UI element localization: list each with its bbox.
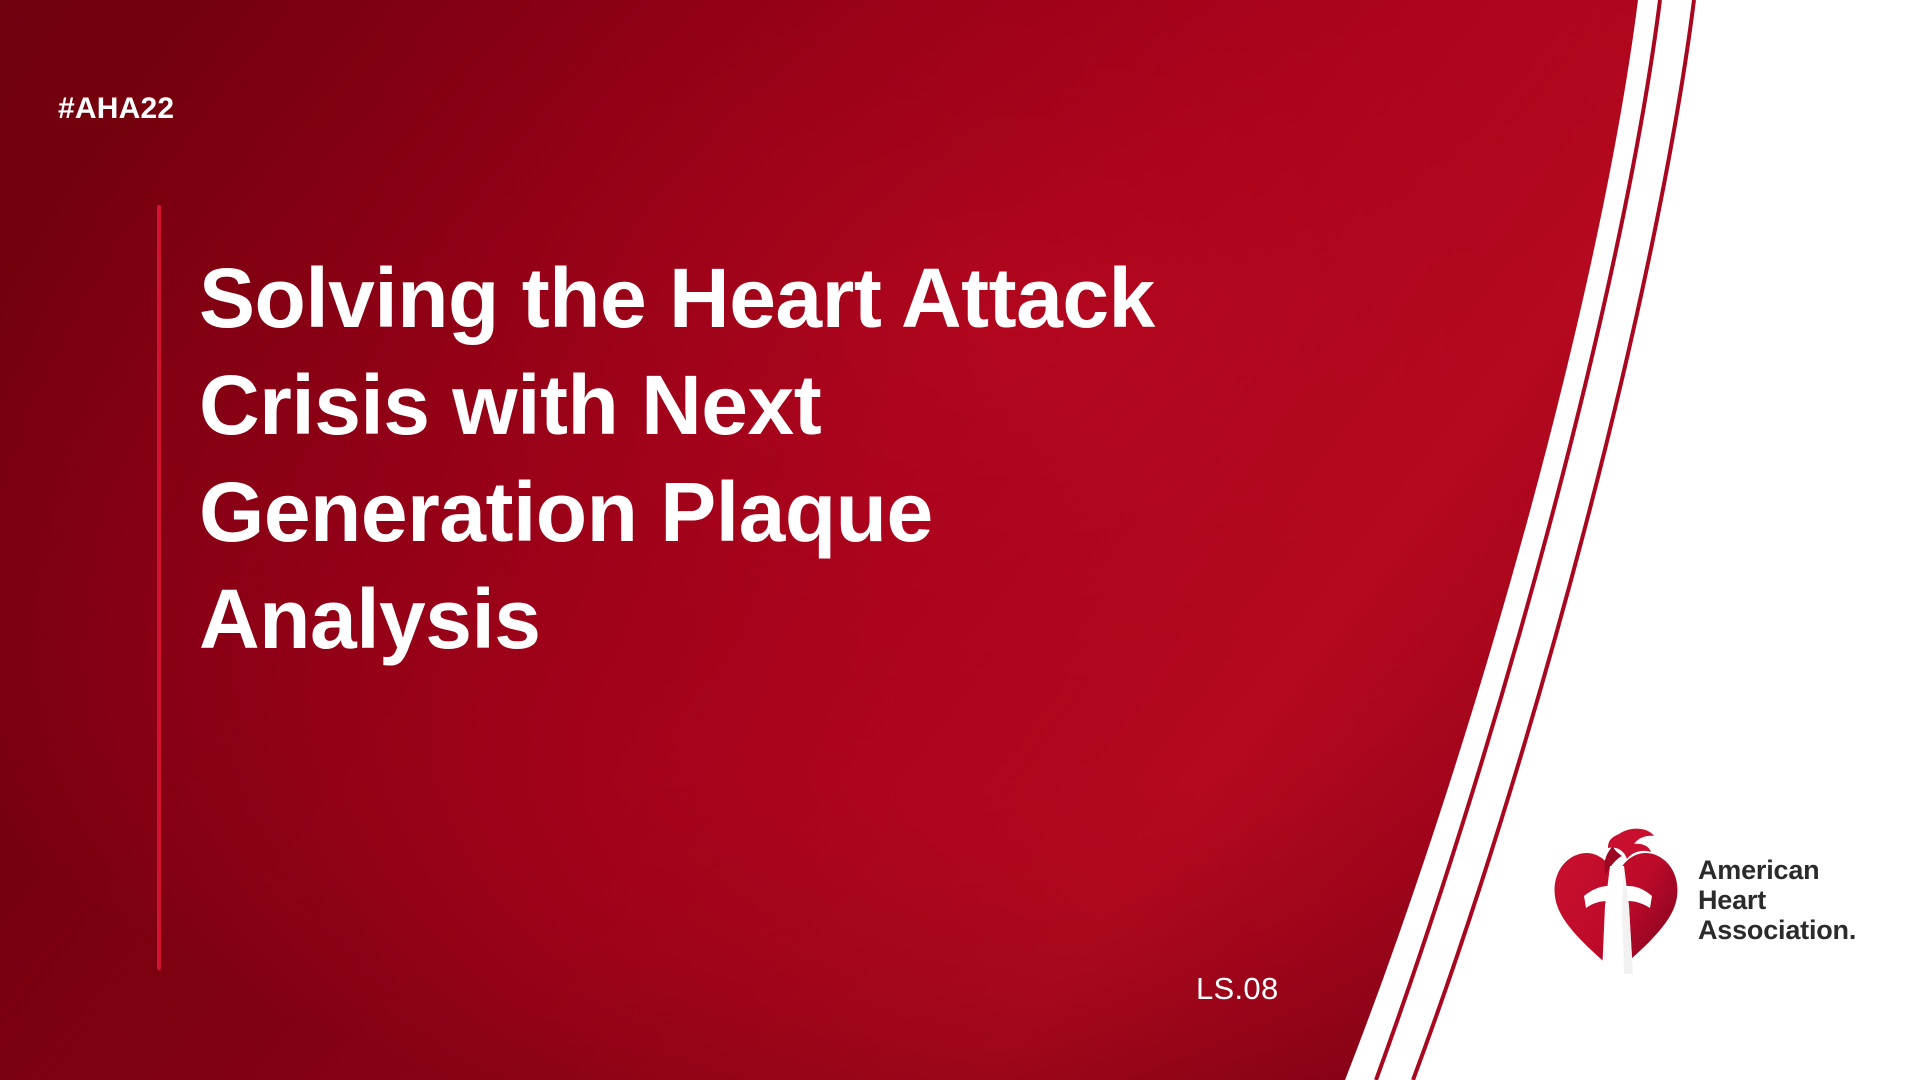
title-line-1: Solving the Heart Attack	[199, 245, 1319, 352]
aha-wordmark-line-3: Association.	[1698, 915, 1856, 945]
american-heart-association-logo: American Heart Association.	[1550, 822, 1880, 977]
aha-wordmark: American Heart Association.	[1698, 855, 1856, 945]
conference-hashtag: #AHA22	[58, 94, 174, 124]
title-line-2: Crisis with Next	[199, 352, 1319, 459]
presentation-title-slide: #AHA22 Solving the Heart Attack Crisis w…	[0, 0, 1920, 1080]
page-title: Solving the Heart Attack Crisis with Nex…	[199, 245, 1319, 673]
aha-wordmark-line-1: American	[1698, 855, 1856, 885]
title-line-4: Analysis	[199, 566, 1319, 673]
session-code-label: LS.08	[1196, 973, 1279, 1004]
title-accent-rule	[157, 205, 161, 970]
title-line-3: Generation Plaque	[199, 459, 1319, 566]
heart-torch-icon	[1550, 826, 1682, 974]
aha-wordmark-line-2: Heart	[1698, 885, 1856, 915]
